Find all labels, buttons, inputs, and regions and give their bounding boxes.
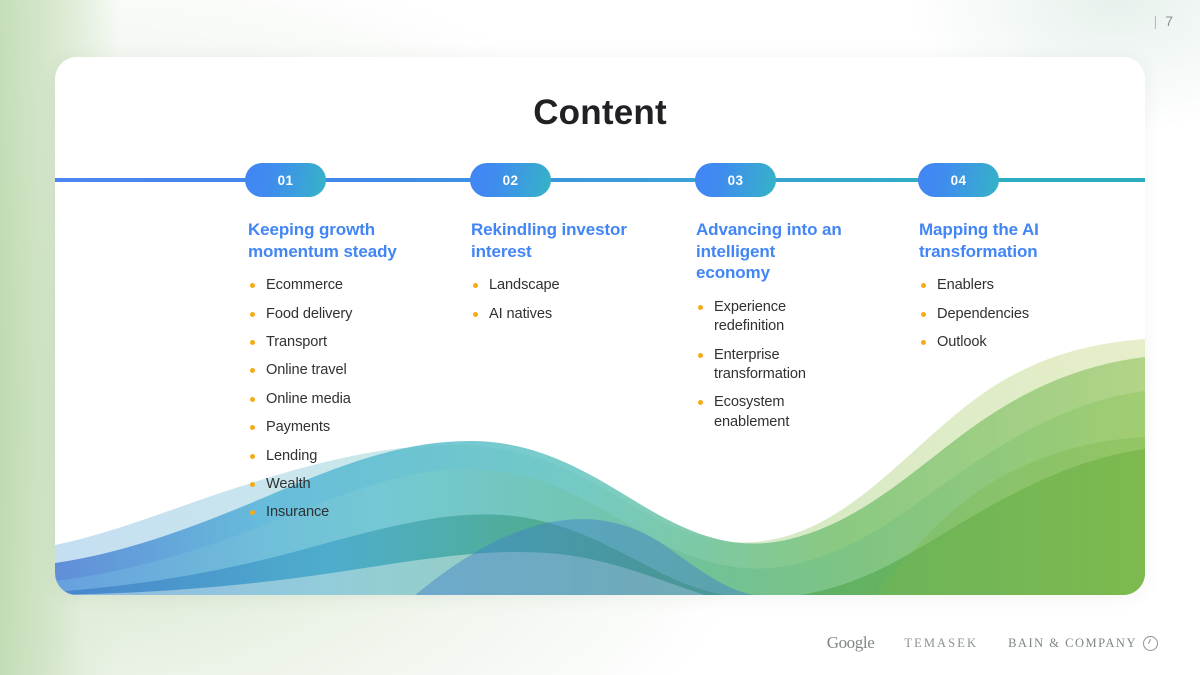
list-item: Online travel [248, 361, 405, 380]
section-03[interactable]: 03 Advancing into an intelligent economy… [638, 163, 853, 441]
section-number-badge-01[interactable]: 01 [245, 163, 326, 197]
list-item: Landscape [471, 276, 628, 295]
section-number-badge-02[interactable]: 02 [470, 163, 551, 197]
list-item: Wealth [248, 475, 405, 494]
footer-logos: Google TEMASEK BAIN & COMPANY [0, 633, 1200, 653]
bain-logo-text: BAIN & COMPANY [1008, 636, 1137, 651]
list-item: Insurance [248, 503, 405, 522]
section-02[interactable]: 02 Rekindling investor interest Landscap… [413, 163, 628, 333]
bain-circle-icon [1143, 636, 1158, 651]
list-item: Enablers [919, 276, 1076, 295]
section-heading-02: Rekindling investor interest [471, 219, 628, 262]
temasek-logo: TEMASEK [904, 636, 978, 651]
list-item: Payments [248, 418, 405, 437]
page-number: | 7 [1154, 13, 1174, 29]
section-04[interactable]: 04 Mapping the AI transformation Enabler… [861, 163, 1076, 361]
section-number-badge-04[interactable]: 04 [918, 163, 999, 197]
sections-container: 01 Keeping growth momentum steady Ecomme… [55, 57, 1145, 595]
list-item: Ecommerce [248, 276, 405, 295]
slide-card: Content 01 Keeping growth momentum stead… [55, 57, 1145, 595]
section-item-list-01: Ecommerce Food delivery Transport Online… [248, 276, 405, 523]
list-item: Transport [248, 333, 405, 352]
list-item: Ecosystem enablement [696, 393, 853, 432]
section-item-list-04: Enablers Dependencies Outlook [919, 276, 1076, 352]
list-item: Experience redefinition [696, 298, 853, 337]
list-item: Online media [248, 390, 405, 409]
section-heading-04: Mapping the AI transformation [919, 219, 1076, 262]
list-item: AI natives [471, 305, 628, 324]
section-heading-03: Advancing into an intelligent economy [696, 219, 853, 284]
list-item: Food delivery [248, 305, 405, 324]
section-item-list-02: Landscape AI natives [471, 276, 628, 324]
page-number-separator: | [1154, 13, 1159, 29]
list-item: Lending [248, 447, 405, 466]
bain-logo: BAIN & COMPANY [1008, 636, 1158, 651]
list-item: Dependencies [919, 305, 1076, 324]
page-number-value: 7 [1165, 13, 1174, 29]
section-item-list-03: Experience redefinition Enterprise trans… [696, 298, 853, 432]
section-heading-01: Keeping growth momentum steady [248, 219, 405, 262]
section-01[interactable]: 01 Keeping growth momentum steady Ecomme… [190, 163, 405, 532]
list-item: Outlook [919, 333, 1076, 352]
list-item: Enterprise transformation [696, 346, 853, 385]
section-number-badge-03[interactable]: 03 [695, 163, 776, 197]
google-logo: Google [827, 633, 875, 653]
